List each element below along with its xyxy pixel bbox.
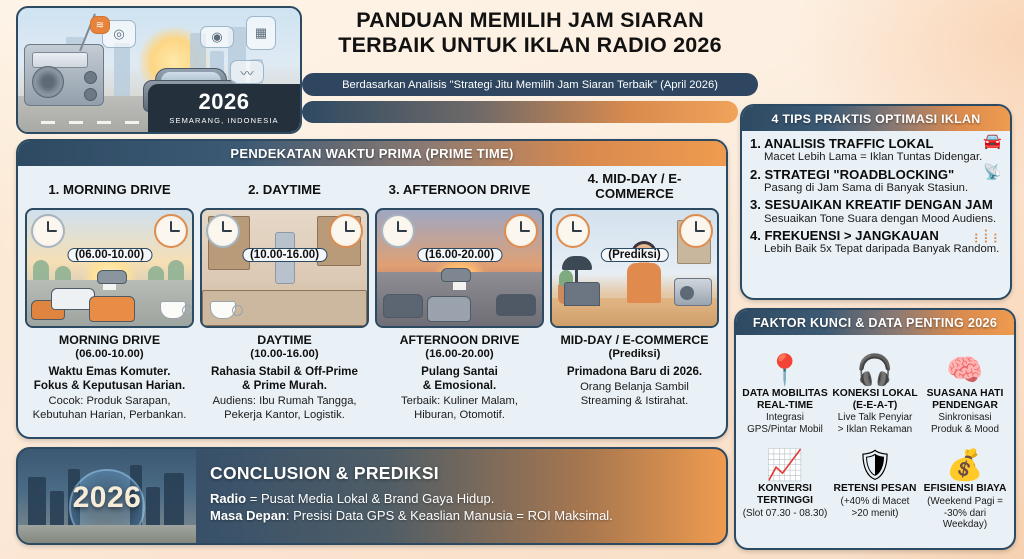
- line-chart-icon: 〰: [230, 60, 264, 84]
- factor-title-2: (E-E-A-T): [831, 400, 919, 412]
- hero-year: 2026: [199, 91, 250, 113]
- skyline-building: [114, 43, 130, 99]
- card-time-badge: (10.00-16.00): [242, 248, 327, 262]
- desc-time: (16.00-20.00): [379, 348, 540, 360]
- tip-item-3[interactable]: 3. SESUAIKAN KREATIF DENGAN JAM Sesuaika…: [750, 197, 1002, 226]
- infographic-page: ◎ ≋ ◉ ▦ 〰 2026 SEMARANG, INDONESIA PANDU…: [0, 0, 1024, 559]
- factor-sub-2: -30% dari Weekday): [921, 508, 1009, 531]
- factor-sub-1: Live Talk Penyiar: [831, 412, 919, 423]
- card-body: (Prediksi): [550, 208, 719, 328]
- desc-time: (06.00-10.00): [29, 348, 190, 360]
- coin-in-hand-icon: 💰: [921, 441, 1009, 481]
- radio-tuner: [32, 52, 88, 68]
- desc-time: (10.00-16.00): [204, 348, 365, 360]
- coffee-cup-icon: [160, 301, 186, 319]
- desc-normal-2: Pekerja Kantor, Logistik.: [204, 409, 365, 423]
- desc-bold-1: Rahasia Stabil & Off-Prime: [204, 365, 365, 379]
- desc-normal-2: Kebutuhan Harian, Perbankan.: [29, 409, 190, 423]
- clock-icon: [504, 214, 538, 248]
- factor-title-2: REAL-TIME: [741, 400, 829, 412]
- tip-subtext: Sesuaikan Tone Suara dengan Mood Audiens…: [764, 213, 1002, 227]
- factor-sub-1: Sinkronisasi: [921, 412, 1009, 423]
- desc-title: MID-DAY / E-COMMERCE: [554, 333, 715, 347]
- radio-illustration: [24, 44, 104, 106]
- coffee-cup-icon: [210, 301, 236, 319]
- clock-icon: [556, 214, 590, 248]
- card-time-badge: (06.00-10.00): [67, 248, 152, 262]
- card-description: MID-DAY / E-COMMERCE (Prediksi) Primadon…: [550, 328, 719, 408]
- clock-icon: [679, 214, 713, 248]
- card-heading-line1: 4. MID-DAY / E-COMMERCE: [550, 172, 719, 201]
- card-body: (10.00-16.00): [200, 208, 369, 328]
- prime-time-panel: PENDEKATAN WAKTU PRIMA (PRIME TIME) 1. M…: [16, 139, 728, 439]
- tip-heading: 2. STRATEGI "ROADBLOCKING": [750, 167, 1002, 182]
- desc-normal-1: Terbaik: Kuliner Malam,: [379, 395, 540, 409]
- card-thumbnail: [200, 208, 369, 328]
- audio-waveform-icon: ⡆⡇⡆: [973, 229, 1002, 242]
- factors-grid-row-1: 📍 DATA MOBILITAS REAL-TIME Integrasi GPS…: [736, 335, 1014, 435]
- factor-efisiensi-biaya[interactable]: 💰 EFISIENSI BIAYA (Weekend Pagi = -30% d…: [921, 441, 1009, 530]
- card-heading: 3. AFTERNOON DRIVE: [375, 172, 544, 208]
- card-time-badge: (16.00-20.00): [417, 248, 502, 262]
- tips-header: 4 TIPS PRAKTIS OPTIMASI IKLAN: [742, 106, 1010, 131]
- factor-sub-2: >20 menit): [831, 508, 919, 519]
- factor-title-1: EFISIENSI BIAYA: [921, 483, 1009, 495]
- desc-bold-1: Waktu Emas Komuter.: [29, 365, 190, 379]
- desc-bold-2: Fokus & Keputusan Harian.: [29, 379, 190, 393]
- card-heading: 1. MORNING DRIVE: [25, 172, 194, 208]
- prime-time-header: PENDEKATAN WAKTU PRIMA (PRIME TIME): [18, 141, 726, 166]
- hero-subtitle: Berdasarkan Analisis "Strategi Jitu Memi…: [302, 73, 758, 96]
- wifi-signal-icon: ≋: [90, 16, 110, 34]
- card-description: MORNING DRIVE (06.00-10.00) Waktu Emas K…: [25, 328, 194, 422]
- clock-icon: [31, 214, 65, 248]
- tip-item-2[interactable]: 2. STRATEGI "ROADBLOCKING" 📡 Pasang di J…: [750, 167, 1002, 196]
- card-afternoon-drive[interactable]: 3. AFTERNOON DRIVE (16.00-20.00): [375, 172, 544, 422]
- two-cars-icon: 🚘: [983, 134, 1002, 149]
- desc-title: DAYTIME: [204, 333, 365, 347]
- radio-speaker: [32, 66, 64, 98]
- page-title: PANDUAN MEMILIH JAM SIARAN TERBAIK UNTUK…: [310, 8, 750, 59]
- factors-panel: FAKTOR KUNCI & DATA PENTING 2026 📍 DATA …: [734, 308, 1016, 550]
- conclusion-value-2: : Presisi Data GPS & Keaslian Manusia = …: [286, 508, 613, 523]
- factor-sub-1: (Weekend Pagi =: [921, 496, 1009, 507]
- factor-title-1: KONVERSI: [741, 483, 829, 495]
- desc-normal-1: Orang Belanja Sambil: [554, 381, 715, 395]
- desc-title: AFTERNOON DRIVE: [379, 333, 540, 347]
- clock-icon: [381, 214, 415, 248]
- bar-chart-icon: ▦: [246, 16, 276, 50]
- desc-bold-2: & Prime Murah.: [204, 379, 365, 393]
- card-description: DAYTIME (10.00-16.00) Rahasia Stabil & O…: [200, 328, 369, 422]
- factor-suasana-hati[interactable]: 🧠 SUASANA HATI PENDENGAR Sinkronisasi Pr…: [921, 340, 1009, 435]
- gps-map-pin-icon: 📍: [741, 340, 829, 386]
- factor-sub-1: (+40% di Macet: [831, 496, 919, 507]
- prime-time-cards: 1. MORNING DRIVE (06.00-10.00): [18, 166, 726, 422]
- factor-title-1: DATA MOBILITAS: [741, 388, 829, 400]
- factor-title-2: PENDENGAR: [921, 400, 1009, 412]
- desc-normal-2: Hiburan, Otomotif.: [379, 409, 540, 423]
- factor-title-1: RETENSI PESAN: [831, 483, 919, 495]
- tip-item-4[interactable]: 4. FREKUENSI > JANGKAUAN ⡆⡇⡆ Lebih Baik …: [750, 228, 1002, 257]
- card-thumbnail: [550, 208, 719, 328]
- conclusion-panel: 2026 CONCLUSION & PREDIKSI Radio = Pusat…: [16, 447, 728, 545]
- card-time-badge: (Prediksi): [600, 248, 668, 262]
- shield-check-icon: 🛡: [831, 441, 919, 481]
- broadcast-tower-icon: 📡: [983, 165, 1002, 180]
- factor-sub-1: Integrasi: [741, 412, 829, 423]
- desc-normal-1: Cocok: Produk Sarapan,: [29, 395, 190, 409]
- factor-koneksi-lokal[interactable]: 🎧 KONEKSI LOKAL (E-E-A-T) Live Talk Peny…: [831, 340, 919, 435]
- clock-icon: [206, 214, 240, 248]
- tips-list: 1. ANALISIS TRAFFIC LOKAL 🚘 Macet Lebih …: [742, 131, 1010, 257]
- desc-normal-1: Audiens: Ibu Rumah Tangga,: [204, 395, 365, 409]
- card-thumbnail: [375, 208, 544, 328]
- clock-icon: [154, 214, 188, 248]
- conclusion-value-1: = Pusat Media Lokal & Brand Gaya Hidup.: [246, 491, 494, 506]
- tip-subtext: Pasang di Jam Sama di Banyak Stasiun.: [764, 182, 1002, 196]
- radio-dial: [84, 71, 97, 84]
- factor-title-1: SUASANA HATI: [921, 388, 1009, 400]
- tip-subtext: Lebih Baik 5x Tepat daripada Banyak Rand…: [764, 243, 1002, 257]
- card-thumbnail: [25, 208, 194, 328]
- road-graphic: [18, 525, 196, 543]
- headset-announcer-icon: 🎧: [831, 340, 919, 386]
- card-heading: 2. DAYTIME: [200, 172, 369, 208]
- desc-bold-1: Pulang Santai: [379, 365, 540, 379]
- card-description: AFTERNOON DRIVE (16.00-20.00) Pulang San…: [375, 328, 544, 422]
- factors-header: FAKTOR KUNCI & DATA PENTING 2026: [736, 310, 1014, 335]
- radio-icon: [674, 278, 712, 306]
- conclusion-illustration: 2026: [18, 449, 196, 543]
- factor-data-mobilitas[interactable]: 📍 DATA MOBILITAS REAL-TIME Integrasi GPS…: [741, 340, 829, 435]
- laptop-icon: [564, 282, 600, 306]
- conclusion-label-1: Radio: [210, 491, 246, 506]
- factor-retensi-pesan[interactable]: 🛡 RETENSI PESAN (+40% di Macet >20 menit…: [831, 441, 919, 530]
- conclusion-line-1: Radio = Pusat Media Lokal & Brand Gaya H…: [210, 491, 726, 506]
- tip-heading: 3. SESUAIKAN KREATIF DENGAN JAM: [750, 197, 1002, 212]
- card-body: (16.00-20.00): [375, 208, 544, 328]
- card-midday-ecommerce[interactable]: 4. MID-DAY / E-COMMERCE (Prediksi): [550, 172, 719, 422]
- conclusion-text: CONCLUSION & PREDIKSI Radio = Pusat Medi…: [196, 449, 726, 543]
- desc-normal-2: Streaming & Istirahat.: [554, 395, 715, 409]
- card-morning-drive[interactable]: 1. MORNING DRIVE (06.00-10.00): [25, 172, 194, 422]
- factor-sub-2: GPS/Pintar Mobil: [741, 424, 829, 435]
- factors-grid-row-2: 📈 KONVERSI TERTINGGI (Slot 07.30 - 08.30…: [736, 435, 1014, 530]
- factor-sub-2: > Iklan Rekaman: [831, 424, 919, 435]
- conclusion-title: CONCLUSION & PREDIKSI: [210, 463, 726, 484]
- factor-sub-1: (Slot 07.30 - 08.30): [741, 508, 829, 519]
- hero-illustration: ◎ ≋ ◉ ▦ 〰 2026 SEMARANG, INDONESIA: [16, 6, 302, 134]
- card-heading: 4. MID-DAY / E-COMMERCE: [550, 172, 719, 208]
- factor-title-2: TERTINGGI: [741, 495, 829, 507]
- growth-chart-icon: 📈: [741, 441, 829, 481]
- factor-sub-2: Produk & Mood: [921, 424, 1009, 435]
- card-body: (06.00-10.00): [25, 208, 194, 328]
- year-location-badge: 2026 SEMARANG, INDONESIA: [148, 84, 300, 132]
- tip-item-1[interactable]: 1. ANALISIS TRAFFIC LOKAL 🚘 Macet Lebih …: [750, 136, 1002, 165]
- desc-bold-1: Primadona Baru di 2026.: [554, 365, 715, 379]
- tip-heading: 1. ANALISIS TRAFFIC LOKAL: [750, 136, 1002, 151]
- tip-heading: 4. FREKUENSI > JANGKAUAN: [750, 228, 1002, 243]
- radio-dial: [84, 88, 97, 101]
- tips-panel: 4 TIPS PRAKTIS OPTIMASI IKLAN 1. ANALISI…: [740, 104, 1012, 300]
- desc-title: MORNING DRIVE: [29, 333, 190, 347]
- factor-konversi-tertinggi[interactable]: 📈 KONVERSI TERTINGGI (Slot 07.30 - 08.30…: [741, 441, 829, 530]
- hero-location: SEMARANG, INDONESIA: [169, 116, 278, 125]
- factor-title-1: KONEKSI LOKAL: [831, 388, 919, 400]
- hero-accent-bar: [302, 101, 738, 123]
- conclusion-line-2: Masa Depan: Presisi Data GPS & Keaslian …: [210, 508, 726, 523]
- desc-time: (Prediksi): [554, 348, 715, 360]
- brain-head-icon: 🧠: [921, 340, 1009, 386]
- tip-subtext: Macet Lebih Lama = Iklan Tuntas Didengar…: [764, 151, 1002, 165]
- card-daytime[interactable]: 2. DAYTIME (10.00-16.00) DAYTIME: [200, 172, 369, 422]
- eye-icon: ◉: [200, 26, 234, 48]
- conclusion-year: 2026: [73, 481, 142, 515]
- clock-icon: [329, 214, 363, 248]
- conclusion-label-2: Masa Depan: [210, 508, 286, 523]
- desc-bold-2: & Emosional.: [379, 379, 540, 393]
